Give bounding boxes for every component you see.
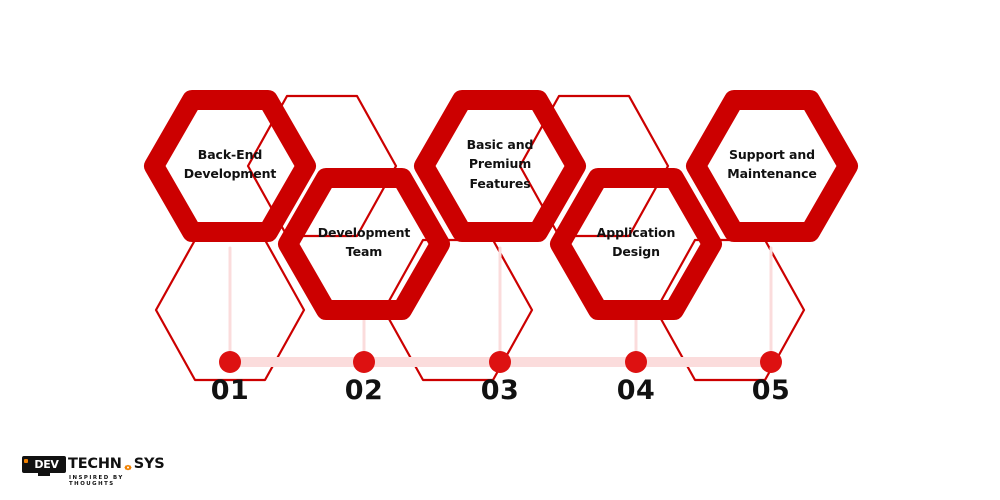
- logo-mark-text: DEV: [29, 459, 58, 470]
- hexagon-step-5: [696, 100, 848, 232]
- devtechnosys-logo: DEV TECHN SYS INSPIRED BY THOUGHTS: [22, 455, 172, 489]
- step-number-4: 04: [601, 375, 671, 406]
- step-number-2: 02: [329, 375, 399, 406]
- logo-accent-dot: [24, 459, 28, 463]
- hexagon-step-4: [560, 178, 712, 310]
- logo-monitor-icon: DEV: [22, 456, 66, 473]
- hexagon-layer: [0, 0, 1000, 500]
- logo-tagline: INSPIRED BY THOUGHTS: [69, 475, 172, 487]
- step-number-3: 03: [465, 375, 535, 406]
- logo-monitor-stand: [38, 473, 50, 476]
- hexagon-step-3: [424, 100, 576, 232]
- infographic-canvas: Back-End Development Development Team Ba…: [0, 0, 1000, 500]
- step-number-1: 01: [195, 375, 265, 406]
- hexagon-step-2: [288, 178, 440, 310]
- gear-icon: [123, 461, 133, 471]
- logo-wordmark: TECHN SYS: [68, 455, 165, 474]
- logo-wordmark-part1: TECHN: [68, 455, 122, 474]
- logo-wordmark-part2: SYS: [134, 455, 165, 474]
- hexagon-step-1: [154, 100, 306, 232]
- step-number-5: 05: [736, 375, 806, 406]
